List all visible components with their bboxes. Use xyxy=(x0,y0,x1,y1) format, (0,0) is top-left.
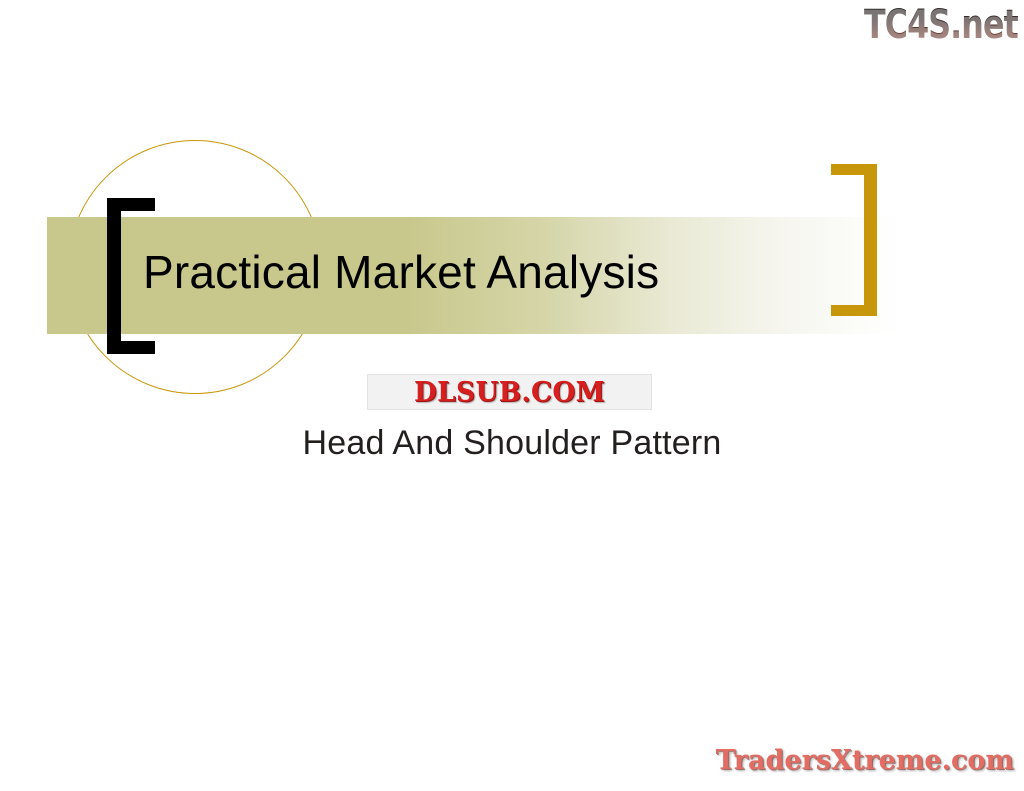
dlsub-logo-text: DLSUB.COM xyxy=(414,379,605,406)
tc4s-watermark: TC4S.net xyxy=(864,2,1018,48)
page-subtitle: Head And Shoulder Pattern xyxy=(0,421,1024,465)
close-bracket-icon xyxy=(831,164,877,316)
dlsub-logo: DLSUB.COM xyxy=(367,374,652,410)
page-title: Practical Market Analysis xyxy=(143,243,659,301)
presentation-slide: TC4S.net Practical Market Analysis DLSUB… xyxy=(0,0,1024,791)
tradersxtreme-watermark: TradersXtreme.com xyxy=(716,745,1014,777)
